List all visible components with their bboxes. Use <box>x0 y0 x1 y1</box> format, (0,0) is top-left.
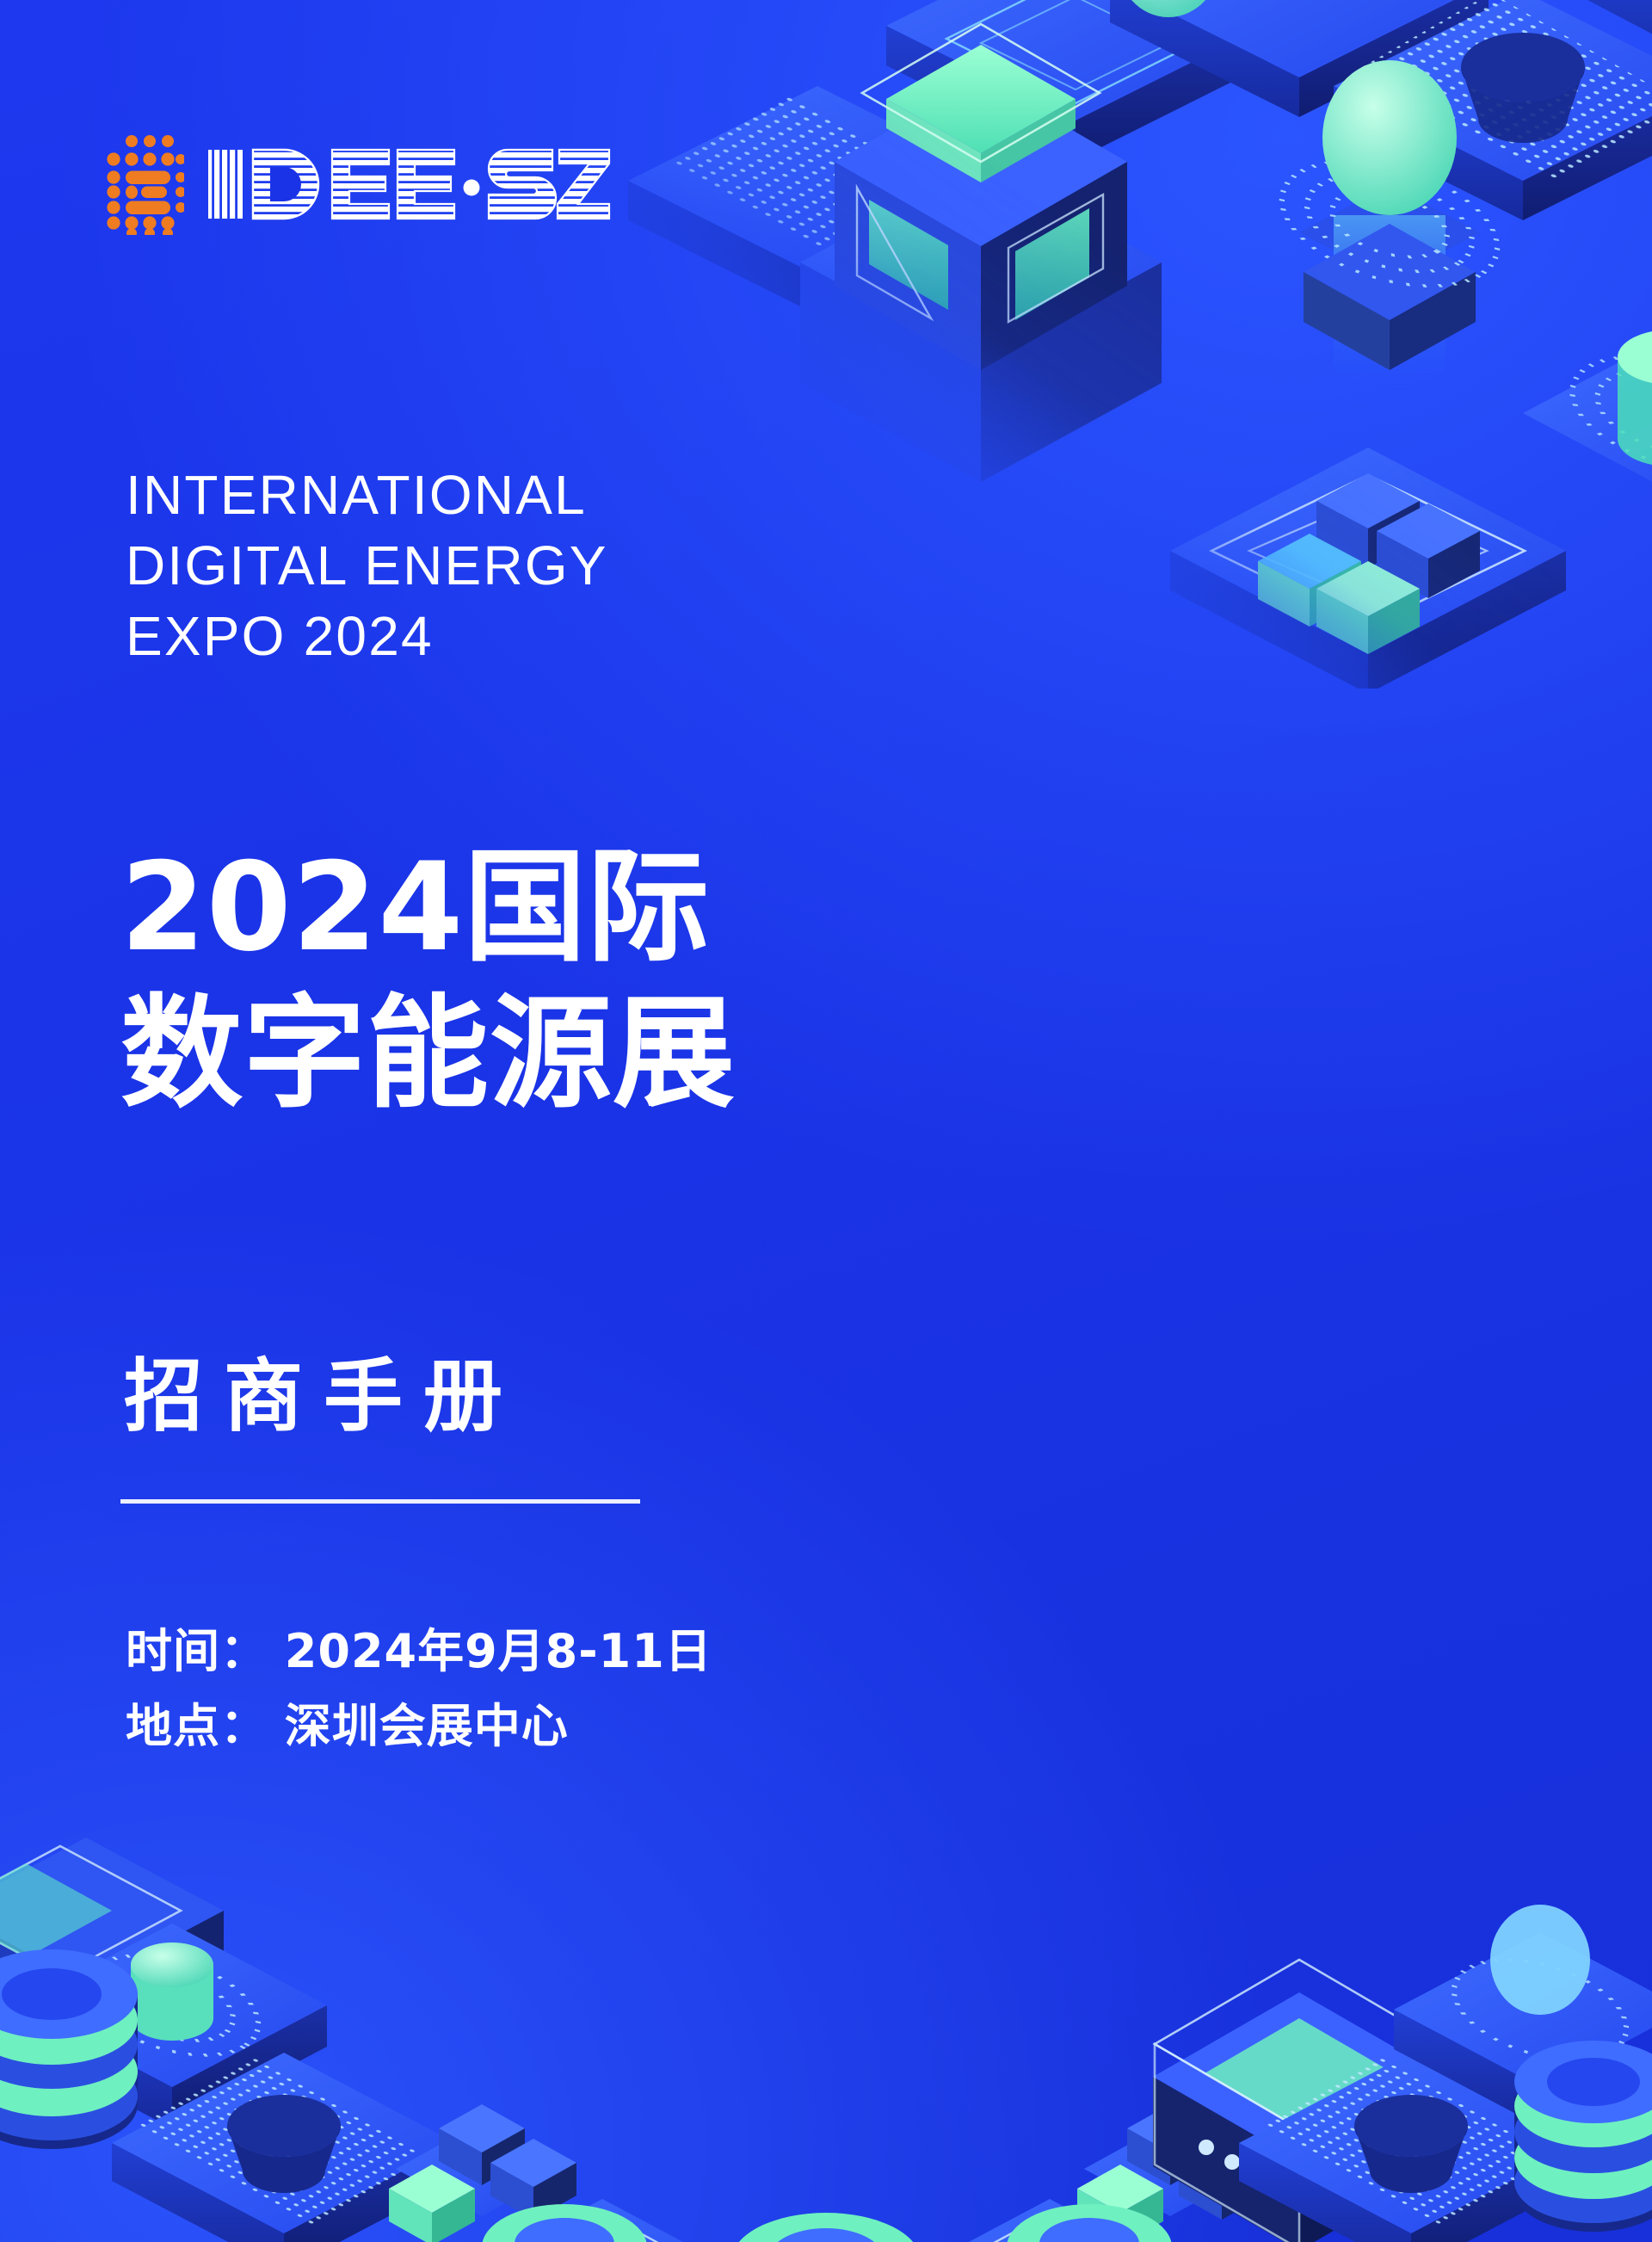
poster-canvas: INTERNATIONAL DIGITAL ENERGY EXPO 2024 2… <box>0 0 1652 2242</box>
idee-sz-wordmark <box>206 145 611 224</box>
subtitle-underline <box>120 1499 640 1504</box>
event-meta: 时间： 2024年9月8-11日 地点： 深圳会展中心 <box>126 1614 712 1764</box>
chinese-main-title: 2024国际 数字能源展 <box>120 835 736 1128</box>
english-headline: INTERNATIONAL DIGITAL ENERGY EXPO 2024 <box>126 460 608 672</box>
brand-logo <box>102 133 611 235</box>
brochure-subtitle: 招商手册 <box>124 1332 523 1447</box>
idee-sz-dot-matrix-icon <box>102 133 184 235</box>
event-date: 时间： 2024年9月8-11日 <box>126 1614 712 1689</box>
event-venue: 地点： 深圳会展中心 <box>126 1689 712 1763</box>
